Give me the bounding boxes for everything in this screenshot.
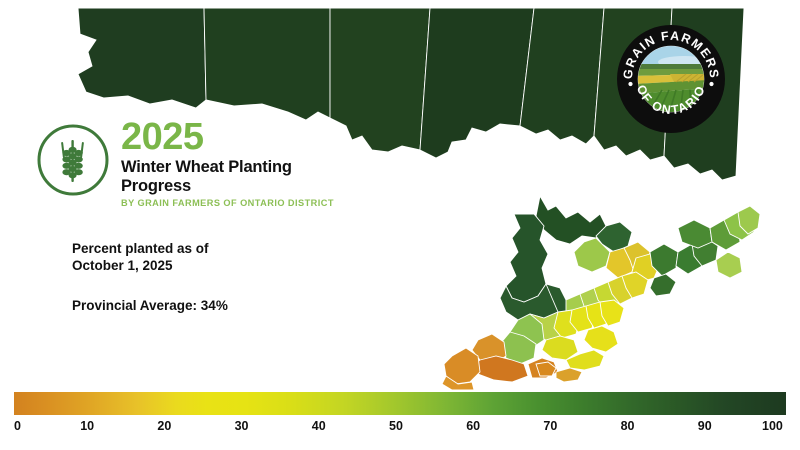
legend-tick-labels: 0102030405060708090100 xyxy=(0,419,800,441)
district-middlesex[interactable] xyxy=(542,336,578,360)
legend-tick-40: 40 xyxy=(312,419,326,433)
district-bruce-peninsula[interactable] xyxy=(506,214,548,302)
legend-tick-60: 60 xyxy=(466,419,480,433)
district-timiskaming[interactable] xyxy=(520,8,604,144)
legend-gradient-bar xyxy=(14,392,786,415)
info-block: Percent planted as of October 1, 2025 Pr… xyxy=(72,240,332,314)
legend-tick-70: 70 xyxy=(543,419,557,433)
page-subtitle: BY GRAIN FARMERS OF ONTARIO DISTRICT xyxy=(121,198,363,208)
district-norfolk[interactable] xyxy=(584,326,618,352)
infographic-canvas: 2025 Winter Wheat Planting Progress BY G… xyxy=(0,0,800,450)
district-rainy-river[interactable] xyxy=(204,8,330,120)
logo-dot-right xyxy=(709,82,713,86)
as-of-line-1: Percent planted as of xyxy=(72,240,332,257)
district-lanark-renfrew[interactable] xyxy=(678,220,712,248)
title-block: 2025 Winter Wheat Planting Progress BY G… xyxy=(33,118,363,208)
legend-tick-100: 100 xyxy=(762,419,783,433)
provincial-average-label: Provincial Average: 34% xyxy=(72,297,332,314)
logo-dot-left xyxy=(628,82,632,86)
district-cochrane[interactable] xyxy=(420,8,534,158)
page-title: Winter Wheat Planting Progress xyxy=(121,158,363,196)
legend-tick-90: 90 xyxy=(698,419,712,433)
legend-tick-10: 10 xyxy=(80,419,94,433)
legend-tick-80: 80 xyxy=(621,419,635,433)
as-of-line-2: October 1, 2025 xyxy=(72,257,332,274)
district-east-shore[interactable] xyxy=(716,252,742,278)
legend: 0102030405060708090100 xyxy=(0,388,800,450)
district-elgin-shore[interactable] xyxy=(556,368,582,382)
district-kenora[interactable] xyxy=(78,8,206,108)
grain-farmers-of-ontario-logo: GRAIN FARMERS OF ONTARIO xyxy=(614,22,728,136)
legend-tick-50: 50 xyxy=(389,419,403,433)
legend-tick-30: 30 xyxy=(235,419,249,433)
legend-tick-0: 0 xyxy=(14,419,21,433)
legend-tick-20: 20 xyxy=(157,419,171,433)
title-text-group: 2025 Winter Wheat Planting Progress BY G… xyxy=(121,118,363,208)
district-parry-sound[interactable] xyxy=(536,196,606,244)
year-label: 2025 xyxy=(121,118,363,156)
wheat-stalk-icon xyxy=(33,120,113,200)
